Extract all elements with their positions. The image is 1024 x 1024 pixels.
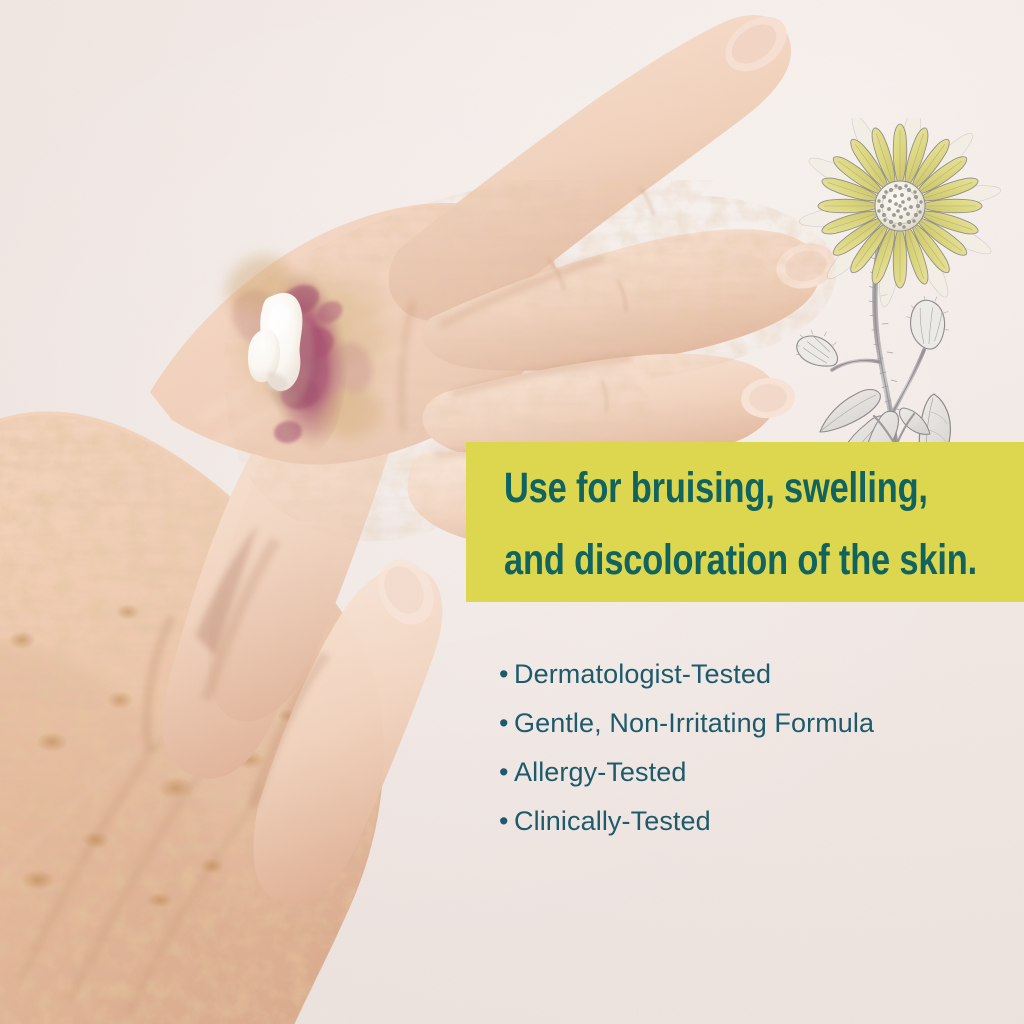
product-marketing-image: Use for bruising, swelling, and discolor… <box>0 0 1024 1024</box>
benefit-label: Gentle, Non-Irritating Formula <box>514 708 874 739</box>
bullet-icon: • <box>499 759 514 786</box>
headline-line-2: and discoloration of the skin. <box>504 524 920 596</box>
bullet-icon: • <box>499 661 514 688</box>
list-item: • Clinically-Tested <box>499 806 999 855</box>
headline-text: Use for bruising, swelling, and discolor… <box>504 452 920 596</box>
benefit-label: Clinically-Tested <box>514 806 711 837</box>
bullet-icon: • <box>499 808 514 835</box>
benefit-label: Allergy-Tested <box>514 757 686 788</box>
list-item: • Gentle, Non-Irritating Formula <box>499 708 999 757</box>
benefits-list: • Dermatologist-Tested • Gentle, Non-Irr… <box>499 659 999 855</box>
arnica-flower-icon <box>796 118 1024 454</box>
benefit-label: Dermatologist-Tested <box>514 659 771 690</box>
headline-line-1: Use for bruising, swelling, <box>504 452 920 524</box>
bullet-icon: • <box>499 710 514 737</box>
list-item: • Allergy-Tested <box>499 757 999 806</box>
list-item: • Dermatologist-Tested <box>499 659 999 708</box>
